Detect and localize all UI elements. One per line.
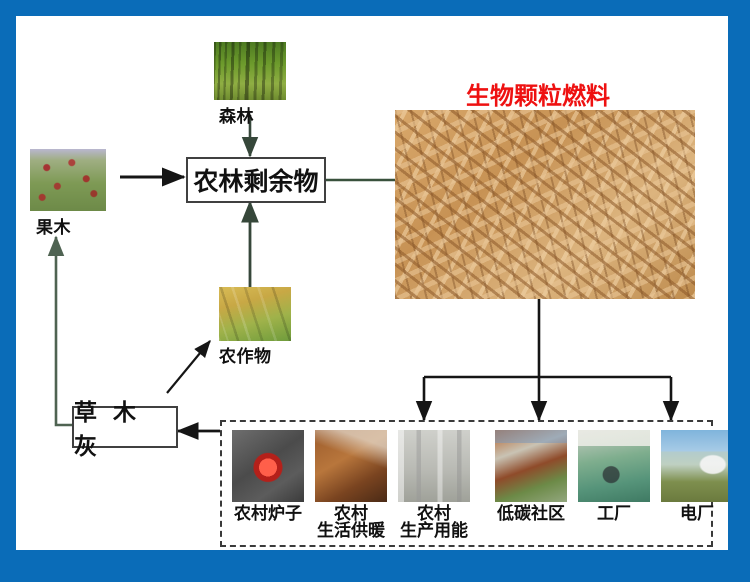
crop-field-photo (219, 287, 291, 341)
diagram-canvas: 森林 果木 农林剩余物 农作物 草 木 灰 生物颗粒燃料 农村炉子 农村 生活供… (16, 16, 728, 550)
rural-heating-photo (315, 430, 387, 502)
edge-ash-to-fruittree (56, 237, 72, 425)
pellet-title: 生物颗粒燃料 (466, 76, 610, 111)
fruit-tree-photo (30, 149, 106, 211)
low-carbon-community-photo (495, 430, 567, 502)
application-caption-4: 工厂 (568, 506, 660, 523)
residue-box-label: 农林剩余物 (193, 162, 318, 198)
rural-stove-photo (232, 430, 304, 502)
crops-label: 农作物 (219, 342, 272, 367)
wood-pellets-photo (395, 110, 695, 299)
edge-ash-to-crops (167, 341, 210, 393)
application-caption-2: 农村 生产用能 (388, 506, 480, 541)
factory-photo (578, 430, 650, 502)
rural-production-energy-photo (398, 430, 470, 502)
ash-box: 草 木 灰 (72, 406, 178, 448)
diagram-frame: 森林 果木 农林剩余物 农作物 草 木 灰 生物颗粒燃料 农村炉子 农村 生活供… (0, 0, 750, 582)
power-plant-photo (661, 430, 728, 502)
application-caption-0: 农村炉子 (222, 506, 314, 523)
ash-box-label: 草 木 灰 (74, 393, 176, 461)
forest-photo (214, 42, 286, 100)
fruit-tree-label: 果木 (36, 213, 71, 238)
application-caption-5: 电厂 (651, 506, 728, 523)
residue-box: 农林剩余物 (186, 157, 326, 203)
application-caption-1: 农村 生活供暖 (305, 506, 397, 541)
application-caption-3: 低碳社区 (485, 506, 577, 523)
forest-label: 森林 (219, 102, 254, 127)
